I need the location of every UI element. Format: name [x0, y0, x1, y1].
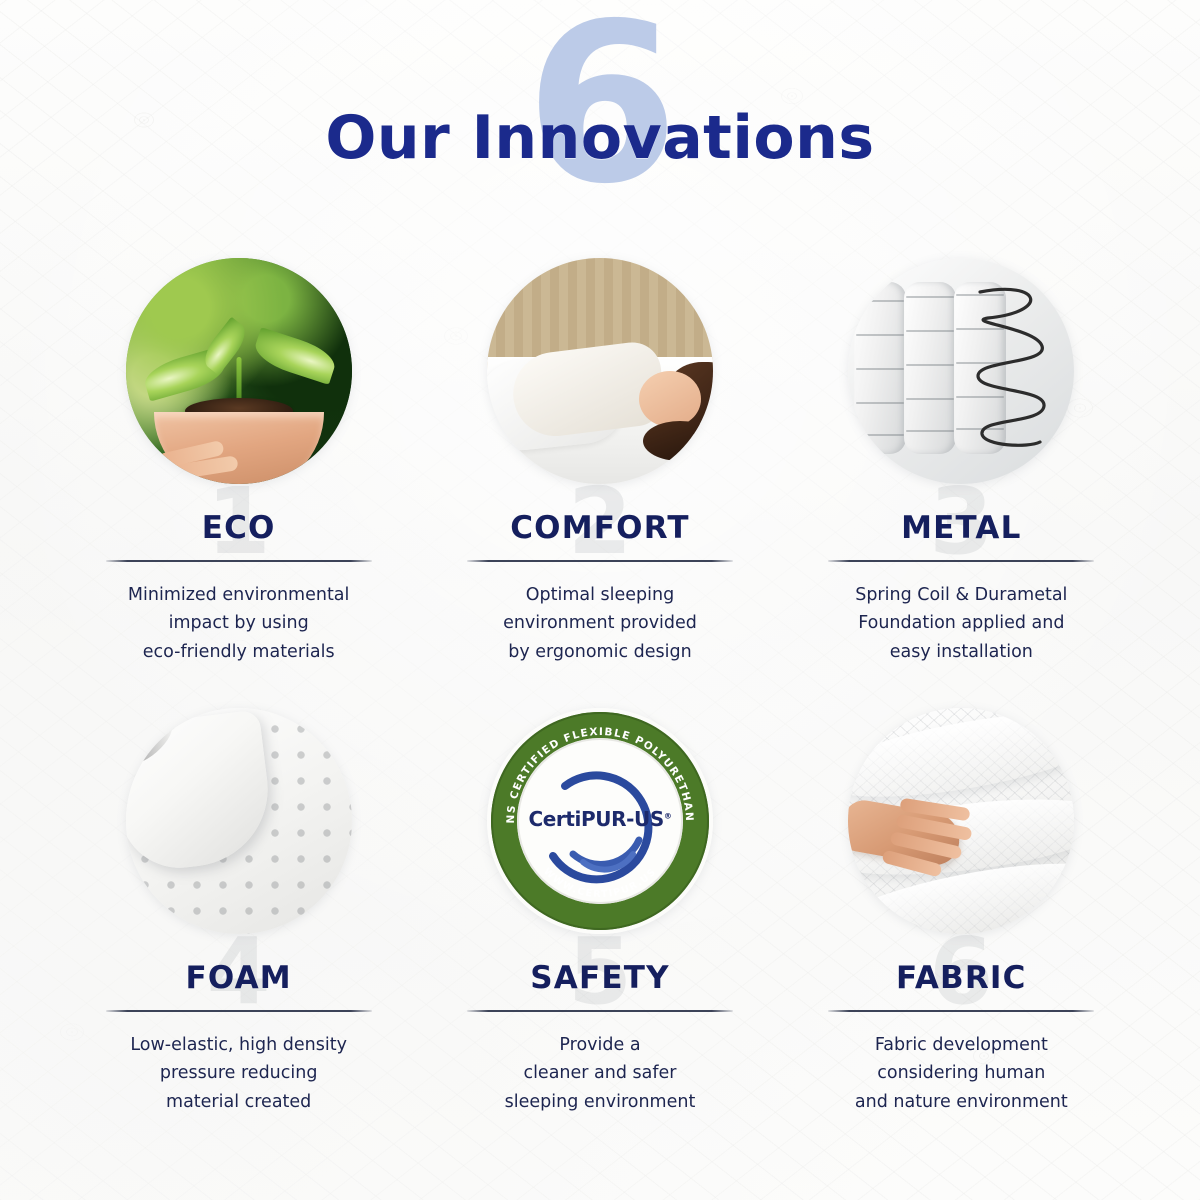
thumbnail-wrapper: [848, 258, 1074, 484]
thumbnail-wrapper: [487, 258, 713, 484]
desc-line: environment provided: [464, 609, 736, 637]
desc-line: and nature environment: [825, 1088, 1097, 1116]
svg-text:CONTAINS CERTIFIED FLEXIBLE PO: CONTAINS CERTIFIED FLEXIBLE POLYURETHANE…: [487, 708, 695, 824]
card-divider: [828, 560, 1094, 562]
card-description: Optimal sleeping environment provided by…: [464, 581, 736, 666]
card-divider: [106, 1010, 372, 1012]
card-title: COMFORT: [510, 510, 690, 546]
perforated-foam-icon: [126, 708, 352, 934]
palm-shape: [154, 412, 324, 484]
bare-metal-coil-icon: [970, 284, 1054, 452]
pocket-coil-springs-icon: [848, 258, 1074, 484]
desc-line: cleaner and safer: [464, 1059, 736, 1087]
card-description: Provide a cleaner and safer sleeping env…: [464, 1031, 736, 1116]
label-block: 2 COMFORT Optimal sleeping environment p…: [419, 484, 780, 666]
innovation-card-fabric: 6 FABRIC Fabric development considering …: [781, 708, 1142, 1116]
card-title: METAL: [901, 510, 1022, 546]
label-block: 1 ECO Minimized environmental impact by …: [58, 484, 419, 666]
certipur-seal: CONTAINS CERTIFIED FLEXIBLE POLYURETHANE…: [487, 708, 713, 934]
card-description: Minimized environmental impact by using …: [103, 581, 375, 666]
card-title: FABRIC: [896, 960, 1027, 996]
card-description: Low-elastic, high density pressure reduc…: [103, 1031, 375, 1116]
innovation-card-safety: CONTAINS CERTIFIED FLEXIBLE POLYURETHANE…: [419, 708, 780, 1116]
thumbnail-wrapper: CONTAINS CERTIFIED FLEXIBLE POLYURETHANE…: [487, 708, 713, 934]
fabric-image: [848, 708, 1074, 934]
desc-line: Minimized environmental: [103, 581, 375, 609]
label-block: 5 SAFETY Provide a cleaner and safer sle…: [419, 934, 780, 1116]
seal-brand-text: CertiPUR-US®: [487, 807, 713, 831]
thumbnail-wrapper: [126, 708, 352, 934]
hand-on-fabric-icon: [848, 708, 1074, 934]
thumbnail-wrapper: [126, 258, 352, 484]
hair-shape: [643, 421, 713, 461]
woman-sleeping-icon: [487, 258, 713, 484]
innovation-card-eco: 1 ECO Minimized environmental impact by …: [58, 258, 419, 666]
desc-line: eco-friendly materials: [103, 638, 375, 666]
card-title: FOAM: [185, 960, 291, 996]
page-title: Our Innovations: [0, 108, 1200, 168]
desc-line: by ergonomic design: [464, 638, 736, 666]
stem-shape: [236, 357, 241, 403]
label-block: 6 FABRIC Fabric development considering …: [781, 934, 1142, 1116]
innovations-grid: 1 ECO Minimized environmental impact by …: [0, 236, 1200, 1116]
leaf-shape: [250, 328, 338, 386]
desc-line: pressure reducing: [103, 1059, 375, 1087]
header: 6 Our Innovations: [0, 0, 1200, 236]
face-shape: [639, 371, 701, 427]
pocket-spring-shape: [854, 282, 906, 454]
innovation-card-metal: 3 METAL Spring Coil & Durametal Foundati…: [781, 258, 1142, 666]
desc-line: Low-elastic, high density: [103, 1031, 375, 1059]
card-divider: [828, 1010, 1094, 1012]
card-divider: [467, 560, 733, 562]
desc-line: Foundation applied and: [825, 609, 1097, 637]
card-divider: [106, 560, 372, 562]
desc-line: easy installation: [825, 638, 1097, 666]
card-description: Spring Coil & Durametal Foundation appli…: [825, 581, 1097, 666]
hand-holding-seedling-icon: [126, 258, 352, 484]
pocket-spring-shape: [904, 282, 956, 454]
eco-image: [126, 258, 352, 484]
metal-image: [848, 258, 1074, 484]
desc-line: material created: [103, 1088, 375, 1116]
card-divider: [467, 1010, 733, 1012]
desc-line: Provide a: [464, 1031, 736, 1059]
desc-line: Fabric development: [825, 1031, 1097, 1059]
card-title: ECO: [202, 510, 276, 546]
desc-line: impact by using: [103, 609, 375, 637]
thumbnail-wrapper: [848, 708, 1074, 934]
desc-line: Optimal sleeping: [464, 581, 736, 609]
card-description: Fabric development considering human and…: [825, 1031, 1097, 1116]
certipur-us-seal-icon: CONTAINS CERTIFIED FLEXIBLE POLYURETHANE…: [487, 708, 713, 934]
comfort-image: [487, 258, 713, 484]
foam-image: [126, 708, 352, 934]
safety-image: CONTAINS CERTIFIED FLEXIBLE POLYURETHANE…: [487, 708, 713, 934]
innovation-card-comfort: 2 COMFORT Optimal sleeping environment p…: [419, 258, 780, 666]
innovation-card-foam: 4 FOAM Low-elastic, high density pressur…: [58, 708, 419, 1116]
desc-line: sleeping environment: [464, 1088, 736, 1116]
desc-line: Spring Coil & Durametal: [825, 581, 1097, 609]
seal-top-arc-text: CONTAINS CERTIFIED FLEXIBLE POLYURETHANE…: [487, 708, 695, 824]
label-block: 4 FOAM Low-elastic, high density pressur…: [58, 934, 419, 1116]
card-title: SAFETY: [530, 960, 669, 996]
desc-line: considering human: [825, 1059, 1097, 1087]
label-block: 3 METAL Spring Coil & Durametal Foundati…: [781, 484, 1142, 666]
infographic-page: 6 Our Innovations: [0, 0, 1200, 1200]
